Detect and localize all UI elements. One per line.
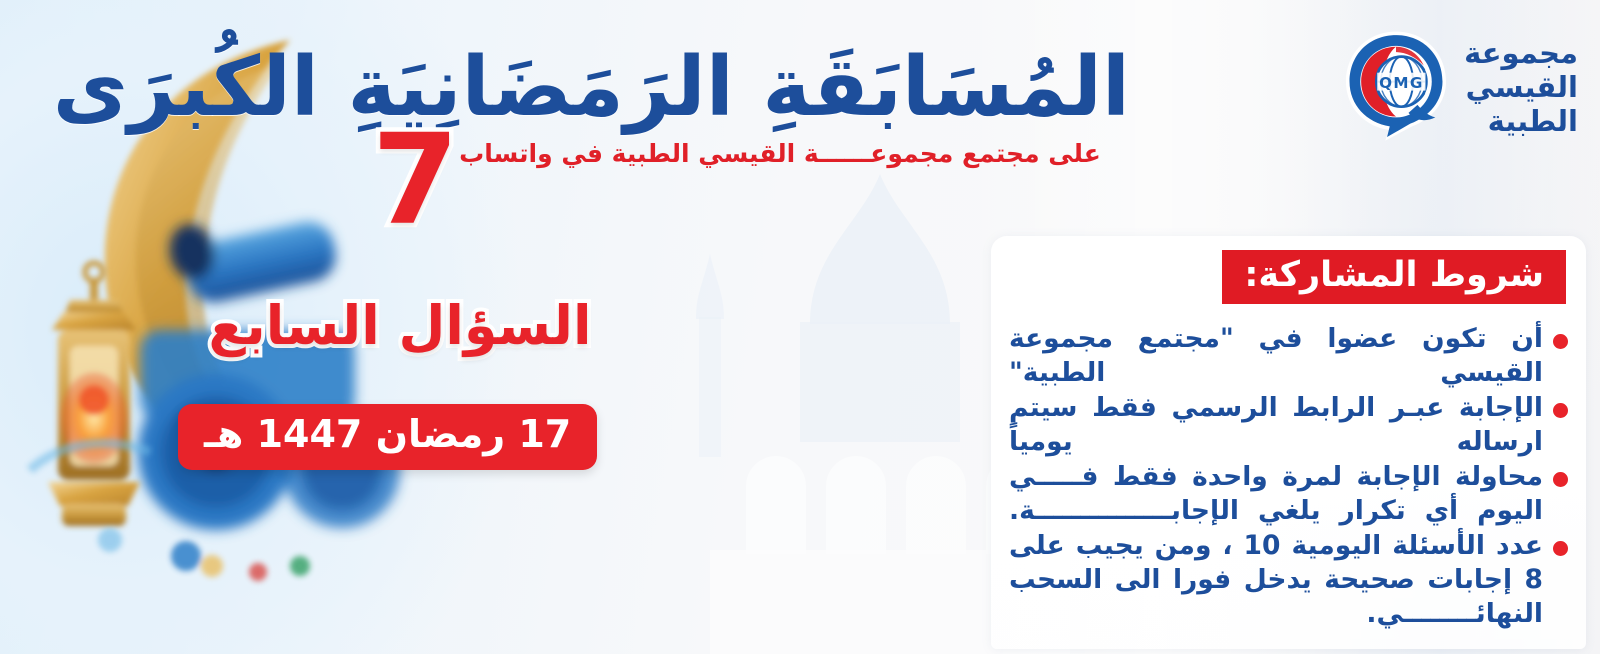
brand-logo: مجموعة القيسي الطبية xyxy=(1342,28,1578,146)
brand-name: مجموعة القيسي الطبية xyxy=(1464,36,1578,139)
list-item: الإجابة عبـر الرابط الرسمي فقط سيتم ارسا… xyxy=(1009,391,1568,459)
conditions-header: شروط المشاركة: xyxy=(1222,250,1566,304)
list-item: أن تكون عضوا في "مجتمع مجموعة القيسي الط… xyxy=(1009,322,1568,390)
cannon-icon xyxy=(138,217,400,530)
title-block: المُسَابَقَةِ الرَمَضَانِيَةِ الكُبرَى ع… xyxy=(430,44,1130,168)
qmg-logo-icon: QMG xyxy=(1342,28,1450,146)
condition-text: محاولة الإجابة لمرة واحدة فقط فـــــي ال… xyxy=(1009,460,1543,528)
condition-text: أن تكون عضوا في "مجتمع مجموعة القيسي الط… xyxy=(1009,322,1543,390)
bullet-icon xyxy=(1553,472,1568,487)
condition-text: عدد الأسئلة اليومية 10 ، ومن يجيب على 8 … xyxy=(1009,529,1543,631)
list-item: محاولة الإجابة لمرة واحدة فقط فـــــي ال… xyxy=(1009,460,1568,528)
list-item: عدد الأسئلة اليومية 10 ، ومن يجيب على 8 … xyxy=(1009,529,1568,631)
page-subtitle: على مجتمع مجموعــــــة القيسي الطبية في … xyxy=(430,139,1130,168)
question-number: 7 xyxy=(372,118,459,243)
lantern-icon xyxy=(48,263,140,526)
brand-name-line-1: مجموعة xyxy=(1464,36,1578,70)
bullet-icon xyxy=(1553,541,1568,556)
conditions-card: شروط المشاركة: أن تكون عضوا في "مجتمع مج… xyxy=(991,236,1586,649)
brand-name-line-2: القيسي xyxy=(1464,70,1578,104)
brand-name-line-3: الطبية xyxy=(1464,104,1578,138)
ramadan-competition-banner: المُسَابَقَةِ الرَمَضَانِيَةِ الكُبرَى ع… xyxy=(0,0,1600,654)
page-title: المُسَابَقَةِ الرَمَضَانِيَةِ الكُبرَى xyxy=(430,44,1130,133)
bullet-icon xyxy=(1553,334,1568,349)
question-headline: السؤال السابع xyxy=(190,296,610,355)
bullet-icon xyxy=(1553,403,1568,418)
date-badge: 17 رمضان 1447 هـ xyxy=(178,404,597,470)
condition-text: الإجابة عبـر الرابط الرسمي فقط سيتم ارسا… xyxy=(1009,391,1543,459)
logo-initials: QMG xyxy=(1379,74,1424,92)
conditions-list: أن تكون عضوا في "مجتمع مجموعة القيسي الط… xyxy=(1009,322,1568,630)
